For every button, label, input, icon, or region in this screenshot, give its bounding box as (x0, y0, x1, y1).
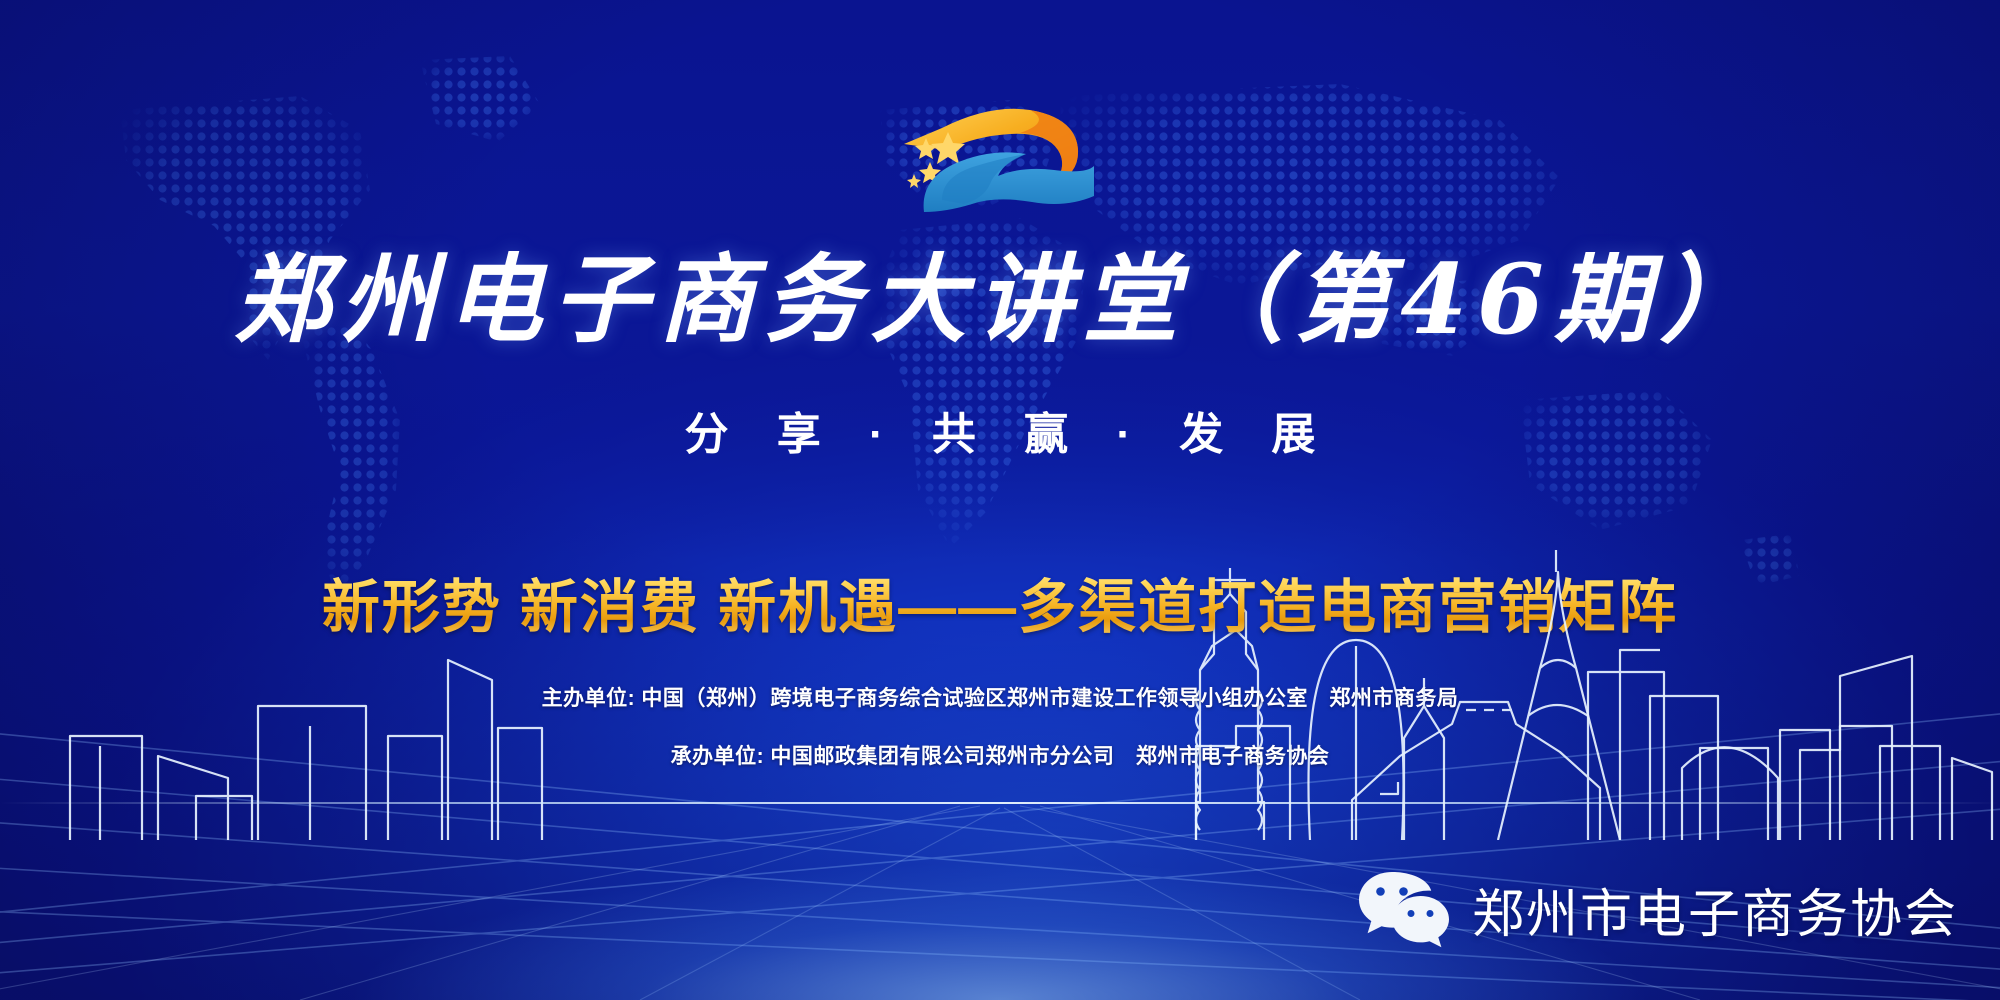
event-banner: 郑州电子商务大讲堂（第46期） 分 享 · 共 赢 · 发 展 新形势 新消费 … (0, 0, 2000, 1000)
page-title: 郑州电子商务大讲堂（第46期） (0, 252, 2000, 348)
page-subtitle: 分 享 · 共 赢 · 发 展 (0, 398, 2000, 462)
wechat-account-block[interactable]: 郑州市电子商务协会 (1358, 870, 1958, 948)
city-skyline-outline-right (0, 550, 2000, 840)
wechat-account-name: 郑州市电子商务协会 (1472, 872, 1958, 947)
wechat-icon (1358, 870, 1450, 948)
association-logo (880, 88, 1120, 218)
